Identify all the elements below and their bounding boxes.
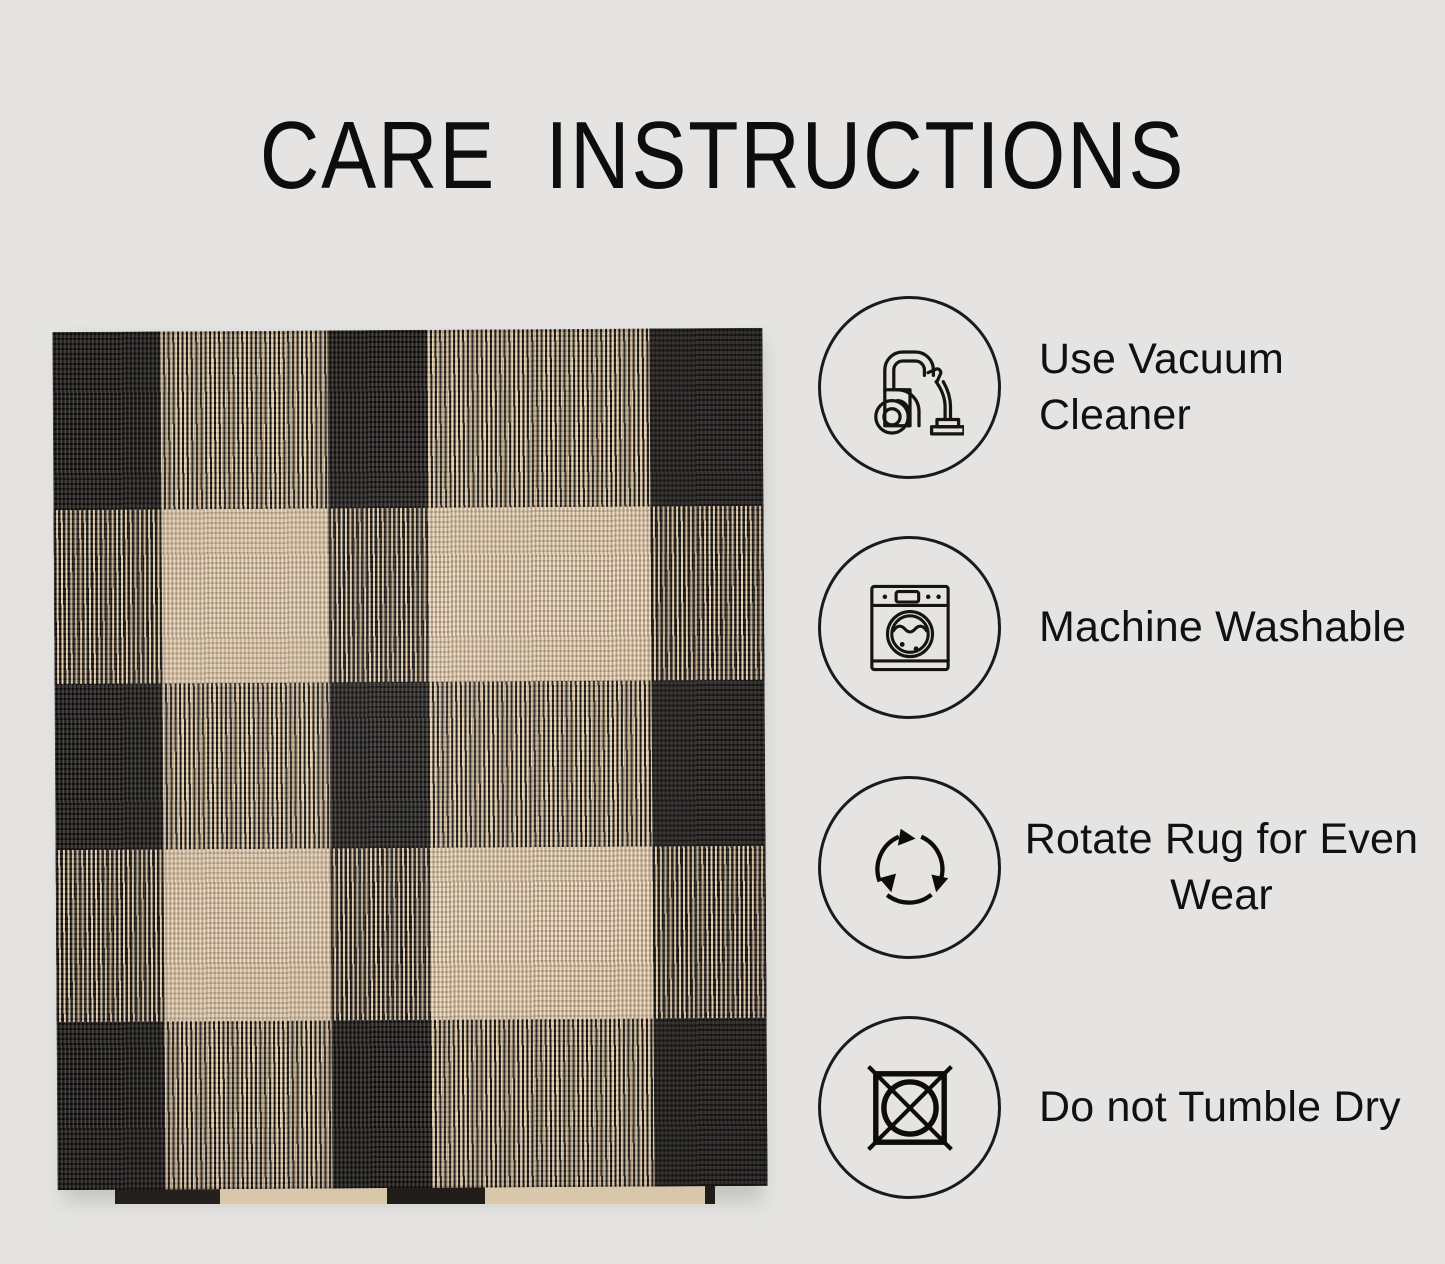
- rug-check-cell: [165, 1020, 333, 1189]
- rug-check-cell: [164, 848, 332, 1021]
- rug-check-cell: [428, 507, 651, 682]
- rug-check-cell: [332, 1020, 433, 1189]
- rug-check-cell: [653, 846, 767, 1019]
- care-item-rotate-rug: Rotate Rug for Even Wear: [818, 776, 1428, 959]
- care-item-machine-washable: Machine Washable: [818, 536, 1428, 719]
- rug-check-cell: [55, 684, 164, 851]
- vacuum-cleaner-icon: [818, 296, 1001, 479]
- rug-check-cell: [53, 510, 162, 685]
- care-item-do-not-tumble-dry: Do not Tumble Dry: [818, 1016, 1428, 1199]
- product-image-rug: [55, 330, 767, 1212]
- rug-check-cell: [327, 330, 428, 509]
- rug-check-cell: [328, 508, 429, 683]
- rug-check-cell: [654, 1018, 768, 1187]
- care-instructions-list: Use Vacuum Cleaner: [818, 296, 1428, 1199]
- page-title: CARE INSTRUCTIONS: [101, 104, 1344, 208]
- do-not-tumble-dry-icon: [818, 1016, 1001, 1199]
- care-item-label: Rotate Rug for Even Wear: [1001, 812, 1428, 922]
- rug-check-cell: [160, 330, 328, 509]
- care-item-vacuum: Use Vacuum Cleaner: [818, 296, 1428, 479]
- rug-check-cell: [432, 1019, 655, 1188]
- rug-check-cell: [57, 1022, 166, 1191]
- rug-plaid-canvas: [52, 328, 767, 1190]
- rug-check-cell: [650, 506, 764, 681]
- rug-check-cell: [52, 332, 161, 511]
- care-item-label: Use Vacuum Cleaner: [1001, 332, 1428, 442]
- washing-machine-icon: [818, 536, 1001, 719]
- rug-check-cell: [56, 850, 165, 1023]
- rug-check-cell: [430, 681, 653, 848]
- rug-check-cell: [163, 682, 331, 849]
- rug-check-cell: [161, 508, 329, 683]
- rotate-arrows-icon: [818, 776, 1001, 959]
- rug-check-cell: [330, 682, 431, 849]
- rug-check-cell: [649, 328, 763, 507]
- rug-check-cell: [431, 847, 654, 1020]
- care-item-label: Machine Washable: [1001, 600, 1428, 655]
- rug-check-cell: [652, 680, 766, 847]
- rug-check-cell: [331, 848, 432, 1021]
- rug-check-cell: [427, 329, 650, 508]
- care-item-label: Do not Tumble Dry: [1001, 1080, 1428, 1135]
